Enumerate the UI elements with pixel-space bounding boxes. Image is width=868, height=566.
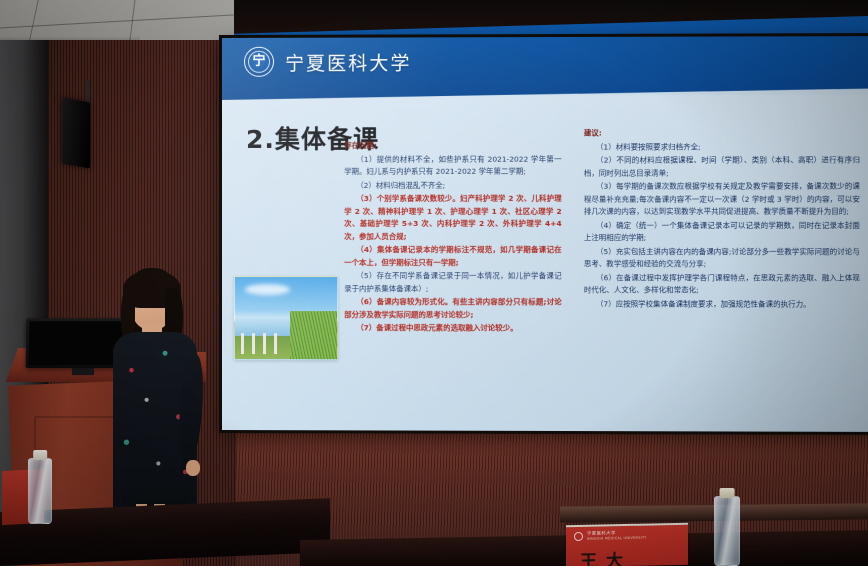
left-item: （4）集体备课记录本的学期标注不规范，如几学期备课记在一个本上，但学期标注只有一…	[344, 244, 561, 270]
slide-header: 宁 宁夏医科大学	[222, 36, 868, 100]
left-item: （6）备课内容较为形式化。有些主讲内容部分只有标题;讨论部分涉及教学实际问题的思…	[344, 296, 561, 322]
university-emblem-icon: 宁	[244, 47, 274, 77]
right-item: （7）应按照学校集体备课制度要求，加强规范性备课的执行力。	[584, 298, 860, 311]
right-item: （3）每学期的备课次数应根据学校有关规定及教学需要安排，备课次数少的课程尽量补充…	[584, 180, 860, 219]
right-column-heading: 建议:	[584, 127, 860, 140]
nameplate-emblem-icon	[574, 532, 583, 541]
right-item: （2）不同的材料应根据课程、时间（学期）、类别（本科、高职）进行有序归档，同时列…	[584, 154, 860, 180]
slide-left-column: 存在问题: （1）提供的材料不全，如些护系只有 2021-2022 学年第一学期…	[344, 140, 561, 337]
right-item: （1）材料要按照要求归档齐全;	[584, 141, 860, 154]
bottle-cap	[720, 488, 735, 498]
nameplate-org-sub: NINGXIA MEDICAL UNIVERSITY	[587, 536, 647, 541]
delegate-nameplate: 宁夏医科大学 NINGXIA MEDICAL UNIVERSITY 王大	[566, 523, 688, 566]
right-item: （4）确定（统一）一个集体备课记录本可以记录的学期数，同时在记录本封面上注明相应…	[584, 220, 860, 246]
right-item: （5）充实包括主讲内容在内的备课内容;讨论部分多一些教学实际问题的讨论与思考、教…	[584, 246, 860, 272]
right-item: （6）在备课过程中发挥护理学各门课程特点，在思政元素的选取、融入上体现时代化、人…	[584, 272, 860, 298]
water-bottle-left	[28, 458, 52, 524]
left-column-heading: 存在问题:	[344, 140, 561, 153]
bottle-cap	[33, 450, 47, 460]
projection-screen: 宁 宁夏医科大学 2.集体备课 存在问题: （1）提供的材料不全，如些护系只有 …	[222, 36, 868, 432]
slide-right-column: 建议: （1）材料要按照要求归档齐全; （2）不同的材料应根据课程、时间（学期）…	[584, 127, 860, 312]
water-bottle-right	[714, 496, 740, 566]
left-item: （5）存在不同学系备课记录于同一本情况，如儿护学备课记录于内护系集体备课本）;	[344, 270, 561, 296]
nameplate-name: 王大	[580, 546, 632, 566]
left-item: （2）材料归档混乱不齐全;	[344, 179, 561, 192]
slide-body: 2.集体备课 存在问题: （1）提供的材料不全，如些护系只有 2021-2022…	[222, 95, 868, 432]
left-item: （1）提供的材料不全，如些护系只有 2021-2022 学年第一学期。妇儿系与内…	[344, 153, 561, 179]
presentation-room-photo: 一、意见反馈 宁 宁夏医科大学 2.集体备课 存在问题:	[0, 0, 868, 566]
left-item: （3）个别学系备课次数较少。妇产科护理学 2 次、儿科护理学 2 次、精神科护理…	[344, 193, 561, 244]
university-name: 宁夏医科大学	[285, 48, 411, 75]
emblem-glyph: 宁	[252, 55, 265, 68]
loudspeaker	[62, 98, 90, 169]
left-item: （7）备课过程中思政元素的选取融入讨论较少。	[344, 322, 561, 335]
